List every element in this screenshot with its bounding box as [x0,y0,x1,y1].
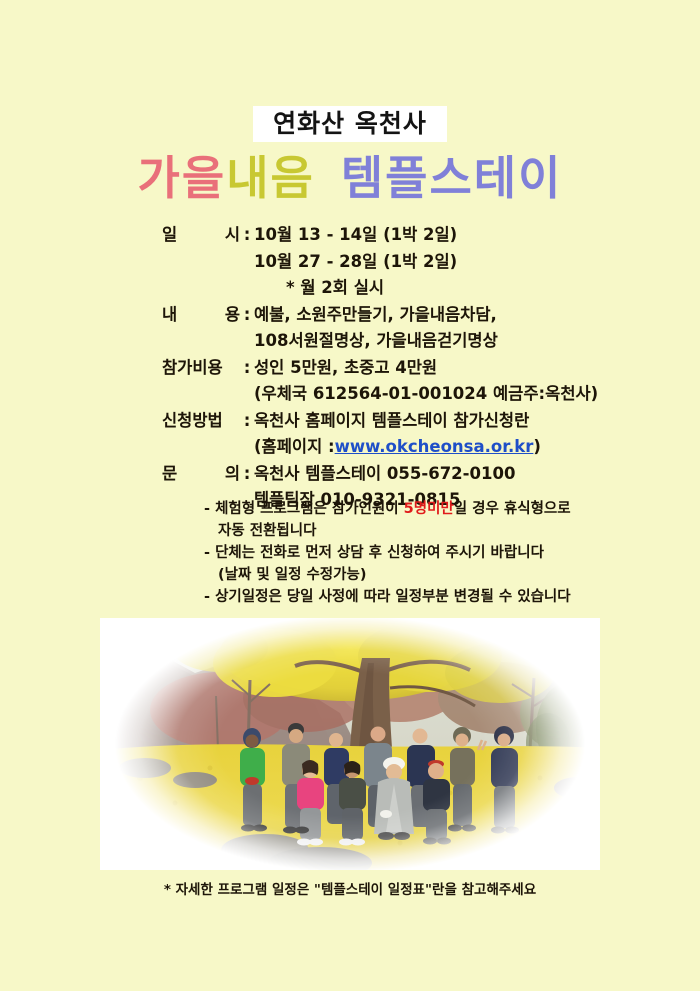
info-value-apply: 옥천사 홈페이지 템플스테이 참가신청란 [254,408,529,435]
note-text-after: 일 경우 휴식형으로 [454,501,571,517]
info-label-contact: 문의 [162,461,240,488]
info-label-apply: 신청방법 [162,408,240,435]
colon: : [240,355,254,382]
note-highlight: 5명미만 [404,501,454,517]
info-value-content: 예불, 소원주만들기, 가을내음차담, [254,302,497,329]
info-label-date: 일시 [162,222,240,249]
website-link[interactable]: www.okcheonsa.or.kr [335,434,534,461]
note-text: 단체는 전화로 먼저 상담 후 신청하여 주시기 바랍니다 [215,545,544,561]
info-value-date-note: * 월 2회 실시 [286,275,384,302]
label-char-b: 시 [225,222,240,249]
info-value-content-2: 108서원절명상, 가을내음걷기명상 [254,328,498,355]
website-suffix: ) [533,434,541,461]
colon: : [240,222,254,249]
info-value-date: 10월 13 - 14일 (1박 2일) [254,222,457,249]
note-item-1-continuation: 자동 전환됩니다 [218,520,700,542]
poster-page: { "page": { "background_color": "#F7F8C8… [0,0,700,991]
temple-subtitle: 연화산 옥천사 [253,106,447,142]
page-title: 가을내음템플스테이 [0,152,700,205]
label-char-b: 용 [225,302,240,329]
info-row-date: 일시 : 10월 13 - 14일 (1박 2일) [0,222,700,249]
label-char-a: 일 [162,222,177,249]
subtitle-container: 연화산 옥천사 [0,106,700,142]
group-photo-illustration [100,618,600,870]
info-value-contact-phone: 옥천사 템플스테이 055-672-0100 [254,461,515,488]
label-char-a: 문 [162,461,177,488]
website-prefix: (홈페이지 : [254,434,335,461]
info-value-date-2: 10월 27 - 28일 (1박 2일) [254,249,457,276]
label-char-a: 내 [162,302,177,329]
colon: : [240,461,254,488]
info-value-bank-account: (우체국 612564-01-001024 예금주:옥천사) [254,381,598,408]
title-part-autumn: 가을 [138,151,227,205]
info-label-fee: 참가비용 [162,355,240,382]
note-continuation-text: 자동 전환됩니다 [218,523,316,539]
info-row-content-sub: 108서원절명상, 가을내음걷기명상 [0,328,700,355]
info-row-account: (우체국 612564-01-001024 예금주:옥천사) [0,381,700,408]
label-char-b: 방법 [192,408,222,435]
info-row-content: 내용 : 예불, 소원주만들기, 가을내음차담, [0,302,700,329]
info-label-content: 내용 [162,302,240,329]
label-char-a: 신청 [162,408,192,435]
note-text-before: 체험형 프로그램은 참가인원이 [215,501,404,517]
label-char-b: 의 [225,461,240,488]
title-part-scent: 내음 [226,151,315,205]
note-dash: - [204,501,210,517]
group-photo-frame [100,618,600,870]
note-item-3: - 상기일정은 당일 사정에 따라 일정부분 변경될 수 있습니다 [204,586,700,608]
note-continuation-text: (날짜 및 일정 수정가능) [218,567,366,583]
note-dash: - [204,545,210,561]
colon: : [240,302,254,329]
label-char-a: 참가 [162,355,192,382]
footer-note: * 자세한 프로그램 일정은 "템플스테이 일정표"란을 참고해주세요 [0,878,700,898]
note-text: 상기일정은 당일 사정에 따라 일정부분 변경될 수 있습니다 [215,589,571,605]
info-row-apply: 신청방법 : 옥천사 홈페이지 템플스테이 참가신청란 [0,408,700,435]
label-char-b: 비용 [192,355,222,382]
info-row-fee: 참가비용 : 성인 5만원, 초중고 4만원 [0,355,700,382]
notes-block: - 체험형 프로그램은 참가인원이 5명미만일 경우 휴식형으로 자동 전환됩니… [0,498,700,608]
info-row-date-sub1: 10월 27 - 28일 (1박 2일) [0,249,700,276]
title-part-templestay: 템플스테이 [341,151,563,205]
info-value-fee: 성인 5만원, 초중고 4만원 [254,355,437,382]
note-item-2: - 단체는 전화로 먼저 상담 후 신청하여 주시기 바랍니다 [204,542,700,564]
info-row-website: (홈페이지 : www.okcheonsa.or.kr) [0,434,700,461]
note-item-2-continuation: (날짜 및 일정 수정가능) [218,564,700,586]
info-block: 일시 : 10월 13 - 14일 (1박 2일) 10월 27 - 28일 (… [0,222,700,514]
note-dash: - [204,589,210,605]
note-item-1: - 체험형 프로그램은 참가인원이 5명미만일 경우 휴식형으로 [204,498,700,520]
colon: : [240,408,254,435]
info-row-date-sub2: * 월 2회 실시 [0,275,700,302]
group-photo [100,618,600,870]
info-row-contact: 문의 : 옥천사 템플스테이 055-672-0100 [0,461,700,488]
